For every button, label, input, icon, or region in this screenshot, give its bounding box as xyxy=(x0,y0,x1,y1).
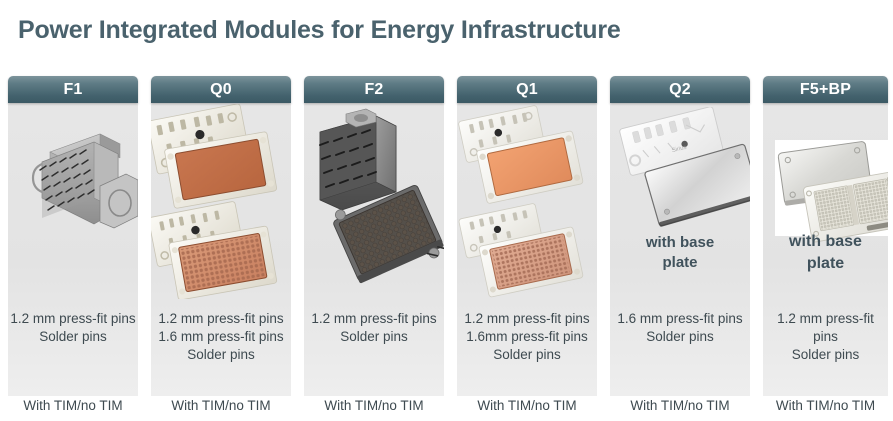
pin-line: 1.2 mm press-fit pins xyxy=(457,310,597,328)
pin-line: 1.2 mm press-fit pins xyxy=(151,310,291,328)
pin-line: 1.2 mm press-fit pins xyxy=(763,310,888,346)
card-header-f5bp: F5+BP xyxy=(763,76,888,103)
pin-spec-f5bp: 1.2 mm press-fit pins Solder pins xyxy=(763,310,888,365)
pin-line: 1.2 mm press-fit pins xyxy=(8,310,138,328)
module-image-f2 xyxy=(304,103,444,299)
pin-line: 1.6 mm press-fit pins xyxy=(610,310,750,328)
card-body-f2: 1.2 mm press-fit pins Solder pins With T… xyxy=(304,103,444,396)
module-card-q2[interactable]: Q2 xyxy=(610,76,750,396)
module-image-q0 xyxy=(151,103,291,299)
baseplate-note-line: plate xyxy=(763,253,888,275)
pin-line: Solder pins xyxy=(304,328,444,346)
card-body-f5bp: with base plate 1.2 mm press-fit pins So… xyxy=(763,103,888,396)
tim-spec-f1: With TIM/no TIM xyxy=(8,398,138,413)
card-header-q2: Q2 xyxy=(610,76,750,103)
baseplate-note-line: with base xyxy=(763,231,888,253)
card-header-f1: F1 xyxy=(8,76,138,103)
module-card-q1[interactable]: Q1 xyxy=(457,76,597,396)
pin-line: Solder pins xyxy=(763,346,888,364)
pin-line: 1.6mm press-fit pins xyxy=(457,328,597,346)
card-header-f2: F2 xyxy=(304,76,444,103)
module-card-f1[interactable]: F1 xyxy=(8,76,138,396)
pin-spec-q1: 1.2 mm press-fit pins 1.6mm press-fit pi… xyxy=(457,310,597,365)
module-card-row: F1 xyxy=(8,76,888,396)
tim-spec-q2: With TIM/no TIM xyxy=(610,398,750,413)
pin-line: Solder pins xyxy=(610,328,750,346)
pin-spec-f1: 1.2 mm press-fit pins Solder pins xyxy=(8,310,138,346)
pin-line: Solder pins xyxy=(457,346,597,364)
module-image-q1 xyxy=(457,103,597,299)
pin-line: 1.6 mm press-fit pins xyxy=(151,328,291,346)
page-title: Power Integrated Modules for Energy Infr… xyxy=(18,16,621,45)
card-header-q1: Q1 xyxy=(457,76,597,103)
tim-spec-f2: With TIM/no TIM xyxy=(304,398,444,413)
pin-spec-q0: 1.2 mm press-fit pins 1.6 mm press-fit p… xyxy=(151,310,291,365)
module-card-f2[interactable]: F2 xyxy=(304,76,444,396)
card-body-f1: 1.2 mm press-fit pins Solder pins With T… xyxy=(8,103,138,396)
baseplate-note-line: plate xyxy=(610,253,750,273)
module-image-f1 xyxy=(8,103,138,299)
module-card-q0[interactable]: Q0 xyxy=(151,76,291,396)
module-card-f5bp[interactable]: F5+BP xyxy=(763,76,888,396)
baseplate-note-line: with base xyxy=(610,233,750,253)
card-body-q1: 1.2 mm press-fit pins 1.6mm press-fit pi… xyxy=(457,103,597,396)
card-body-q2: Sirius with base plate xyxy=(610,103,750,396)
slide-root: Power Integrated Modules for Energy Infr… xyxy=(0,0,893,421)
pin-line: Solder pins xyxy=(8,328,138,346)
card-header-q0: Q0 xyxy=(151,76,291,103)
tim-spec-f5bp: With TIM/no TIM xyxy=(763,398,888,413)
pin-line: 1.2 mm press-fit pins xyxy=(304,310,444,328)
tim-spec-q1: With TIM/no TIM xyxy=(457,398,597,413)
baseplate-note-f5bp: with base plate xyxy=(763,231,888,274)
pin-spec-f2: 1.2 mm press-fit pins Solder pins xyxy=(304,310,444,346)
pin-line: Solder pins xyxy=(151,346,291,364)
tim-spec-q0: With TIM/no TIM xyxy=(151,398,291,413)
baseplate-note-q2: with base plate xyxy=(610,233,750,274)
pin-spec-q2: 1.6 mm press-fit pins Solder pins xyxy=(610,310,750,346)
card-body-q0: 1.2 mm press-fit pins 1.6 mm press-fit p… xyxy=(151,103,291,396)
